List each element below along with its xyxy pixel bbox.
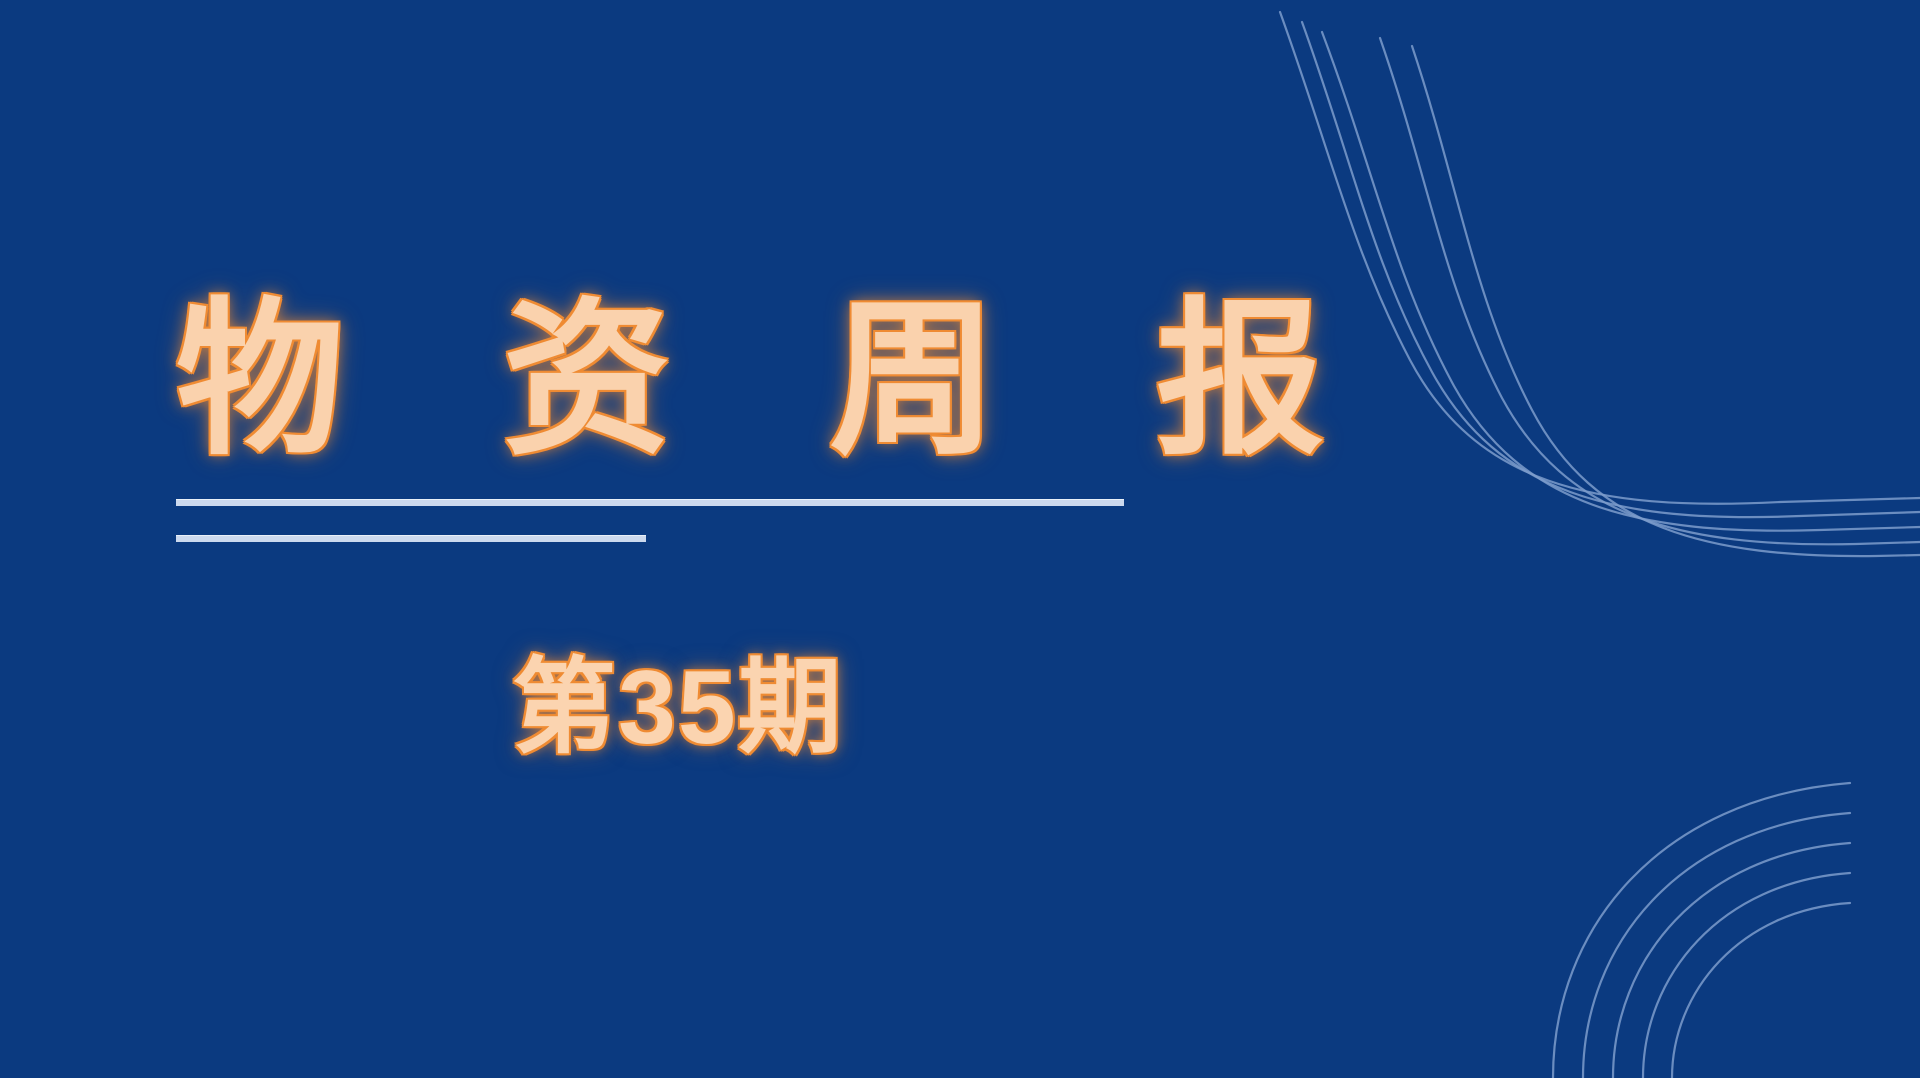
top-right-swoosh-svg xyxy=(1260,0,1920,560)
bottom-right-arc-lines xyxy=(1520,738,1920,1078)
arc-line-5 xyxy=(1672,903,1850,1078)
swoosh-line-2 xyxy=(1302,22,1920,517)
title-underline-long xyxy=(176,499,1124,506)
bottom-right-arc-svg xyxy=(1520,738,1920,1078)
title-underline-group xyxy=(176,499,1124,542)
arc-line-3 xyxy=(1613,843,1850,1078)
top-right-swoosh-lines xyxy=(1260,0,1920,560)
title-block: 物 资 周 报 xyxy=(176,296,1176,464)
swoosh-line-4 xyxy=(1380,38,1920,544)
title-underline-short xyxy=(176,535,646,542)
arc-line-1 xyxy=(1553,783,1850,1078)
arc-line-2 xyxy=(1583,813,1850,1078)
cover-slide: 物 资 周 报 第35期 xyxy=(0,0,1920,1078)
issue-subtitle: 第35期 xyxy=(512,650,844,766)
swoosh-line-5 xyxy=(1412,46,1920,556)
swoosh-line-3 xyxy=(1322,32,1920,531)
arc-line-4 xyxy=(1643,873,1850,1078)
page-title: 物 资 周 报 xyxy=(176,296,1176,464)
